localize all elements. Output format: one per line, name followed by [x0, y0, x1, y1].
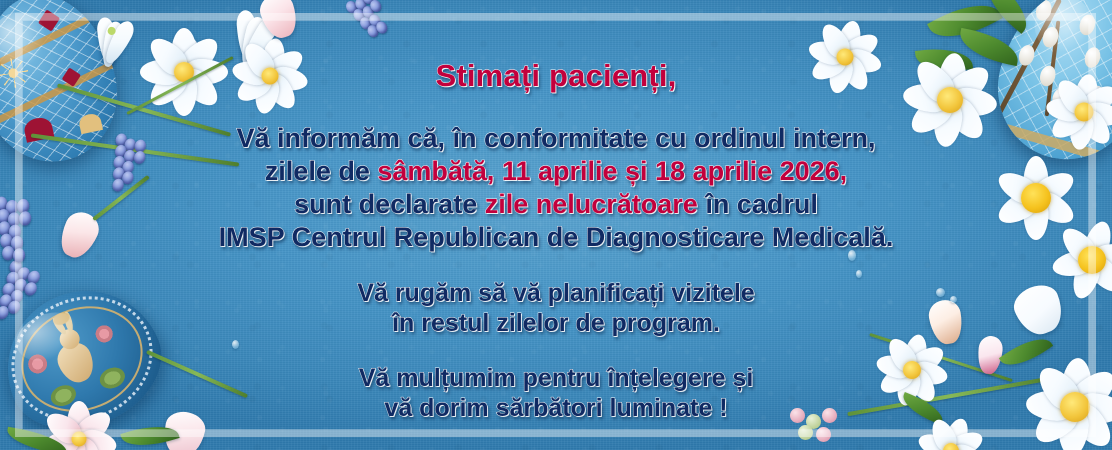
notice-line-3-prefix: sunt declarate: [294, 189, 485, 219]
easter-announcement-banner: Stimați pacienți, Vă informăm că, în con…: [0, 0, 1112, 450]
notice-line-3-suffix: în cadrul: [698, 189, 818, 219]
thanks-line-1: Vă mulțumim pentru înțelegere și: [359, 363, 754, 394]
thanks-paragraph: Vă mulțumim pentru înțelegere și vă dori…: [359, 363, 754, 424]
request-line-1-text: Vă rugăm să vă planificați vizitele: [357, 279, 754, 307]
notice-line-4: IMSP Centrul Republican de Diagnosticare…: [219, 221, 894, 254]
notice-line-1: Vă informăm că, în conformitate cu ordin…: [219, 122, 894, 155]
page-title: Stimați pacienți,: [435, 58, 676, 94]
notice-line-2-dates: sâmbătă, 11 aprilie și 18 aprilie 2026,: [377, 156, 847, 186]
notice-line-2-prefix: zilele de: [265, 156, 378, 186]
request-paragraph: Vă rugăm să vă planificați vizitele în r…: [357, 278, 754, 339]
announcement-content: Stimați pacienți, Vă informăm că, în con…: [0, 0, 1112, 450]
institution-name: IMSP Centrul Republican de Diagnosticare…: [219, 222, 894, 252]
notice-line-2: zilele de sâmbătă, 11 aprilie și 18 apri…: [219, 155, 894, 188]
notice-line-1-text: Vă informăm că, în conformitate cu ordin…: [236, 123, 875, 153]
request-line-2: în restul zilelor de program.: [357, 308, 754, 339]
request-line-2-text: în restul zilelor de program.: [392, 309, 720, 337]
notice-line-3: sunt declarate zile nelucrătoare în cadr…: [219, 188, 894, 221]
thanks-line-1-text: Vă mulțumim pentru înțelegere și: [359, 364, 754, 392]
notice-paragraph: Vă informăm că, în conformitate cu ordin…: [219, 122, 894, 254]
request-line-1: Vă rugăm să vă planificați vizitele: [357, 278, 754, 309]
thanks-line-2-text: vă dorim sărbători luminate !: [384, 394, 727, 422]
thanks-line-2: vă dorim sărbători luminate !: [359, 393, 754, 424]
notice-line-3-highlight: zile nelucrătoare: [485, 189, 698, 219]
